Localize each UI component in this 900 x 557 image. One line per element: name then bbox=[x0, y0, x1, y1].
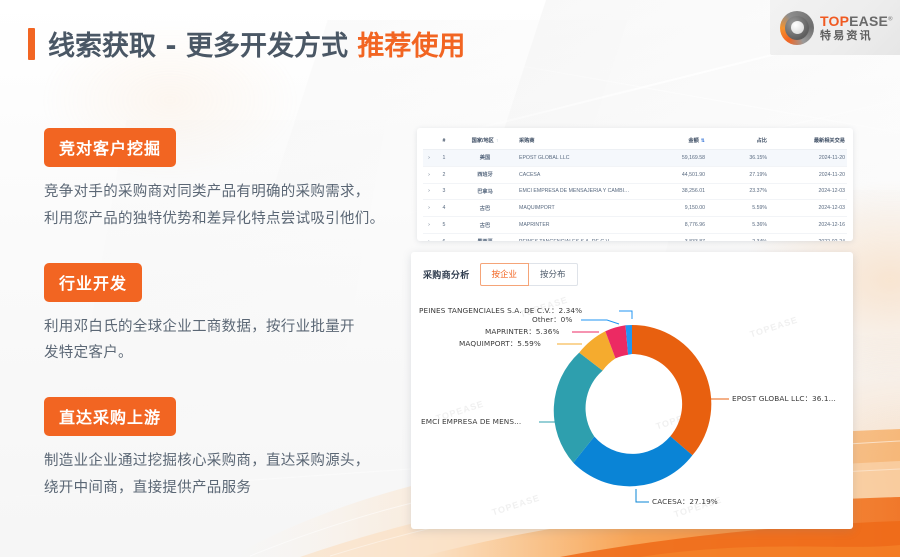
table-row[interactable]: › 2 西班牙 CACESA 44,501.90 27.19% 2024-11-… bbox=[423, 166, 847, 183]
feature-list: 竞对客户挖掘 竞争对手的采购商对同类产品有明确的采购需求， 利用您产品的独特优势… bbox=[44, 128, 404, 502]
chart-body: TOPEASE TOPEASE TOPEASE TOPEASE TOPEASE … bbox=[411, 286, 853, 521]
row-amount: 8,776.96 bbox=[635, 217, 707, 234]
row-latest: 2024-12-03 bbox=[769, 200, 847, 217]
row-country: 美国 bbox=[453, 150, 517, 167]
row-latest: 2024-11-20 bbox=[769, 150, 847, 167]
buyer-analysis-card: 采购商分析 按企业 按分布 TOPEASE TOPEASE TOPEASE TO… bbox=[411, 252, 853, 529]
logo-wordmark: TOPEASE® 特易资讯 bbox=[820, 14, 893, 42]
th-expand bbox=[423, 132, 435, 150]
logo-subtitle: 特易资讯 bbox=[820, 31, 893, 42]
row-country: 西班牙 bbox=[453, 166, 517, 183]
table-row[interactable]: › 5 古巴 MAPRINTER 8,776.96 5.36% 2024-12-… bbox=[423, 217, 847, 234]
feature-desc-1: 竞争对手的采购商对同类产品有明确的采购需求， 利用您产品的独特优势和差异化特点尝… bbox=[44, 179, 404, 233]
row-expand-icon[interactable]: › bbox=[423, 200, 435, 217]
row-buyer[interactable]: MAPRINTER bbox=[517, 217, 635, 234]
th-amount[interactable]: 金额⇅ bbox=[635, 132, 707, 150]
chart-header: 采购商分析 按企业 按分布 bbox=[411, 252, 853, 286]
table-row[interactable]: › 1 美国 EPOST GLOBAL LLC 59,169.58 36.15%… bbox=[423, 150, 847, 167]
row-latest: 2024-11-20 bbox=[769, 166, 847, 183]
chart-title: 采购商分析 bbox=[423, 268, 470, 281]
slice-cacesa[interactable] bbox=[573, 436, 692, 486]
row-amount: 3,833.87 bbox=[635, 233, 707, 241]
row-latest: 2024-12-16 bbox=[769, 217, 847, 234]
row-latest: 2024-12-03 bbox=[769, 183, 847, 200]
row-index: 6 bbox=[435, 233, 453, 241]
row-share: 5.36% bbox=[707, 217, 769, 234]
th-latest: 最新相关交易 bbox=[769, 132, 847, 150]
buyers-table: # 国家/地区↑ 采购商 金额⇅ 占比 最新相关交易 › 1 美国 EPOST … bbox=[423, 132, 847, 241]
sort-ascending-icon[interactable]: ↑ bbox=[496, 138, 499, 144]
callout-label-cacesa: CACESA：27.19% bbox=[652, 497, 718, 507]
table-row[interactable]: › 4 古巴 MAQUIMPORT 9,150.00 5.59% 2024-12… bbox=[423, 200, 847, 217]
title-main-text: 线索获取 - 更多开发方式 bbox=[48, 31, 348, 62]
row-expand-icon[interactable]: › bbox=[423, 150, 435, 167]
row-share: 2.34% bbox=[707, 233, 769, 241]
row-index: 5 bbox=[435, 217, 453, 234]
feature-desc-1-line-1: 竞争对手的采购商对同类产品有明确的采购需求， bbox=[44, 179, 404, 206]
row-buyer[interactable]: EPOST GLOBAL LLC bbox=[517, 150, 635, 167]
row-share: 23.37% bbox=[707, 183, 769, 200]
row-country: 古巴 bbox=[453, 217, 517, 234]
row-amount: 38,256.01 bbox=[635, 183, 707, 200]
logo-top-orange: TOP bbox=[820, 13, 849, 29]
row-expand-icon[interactable]: › bbox=[423, 183, 435, 200]
leader-peines bbox=[619, 311, 632, 319]
row-buyer[interactable]: PEINES TANGENCIALES S.A. DE C.V. bbox=[517, 233, 635, 241]
th-buyer: 采购商 bbox=[517, 132, 635, 150]
feature-desc-2: 利用邓白氏的全球企业工商数据，按行业批量开 发特定客户。 bbox=[44, 314, 404, 368]
sort-toggle-icon[interactable]: ⇅ bbox=[701, 138, 705, 144]
row-amount: 9,150.00 bbox=[635, 200, 707, 217]
callout-label-maprinter: MAPRINTER：5.36% bbox=[485, 327, 559, 337]
feature-desc-3-line-2: 绕开中间商，直接提供产品服务 bbox=[44, 475, 404, 502]
feature-desc-3-line-1: 制造业企业通过挖掘核心采购商，直达采购源头， bbox=[44, 448, 404, 475]
feature-badge-1: 竞对客户挖掘 bbox=[44, 128, 176, 167]
leader-cacesa bbox=[636, 489, 649, 502]
row-latest: 2022-02-24 bbox=[769, 233, 847, 241]
feature-desc-2-line-2: 发特定客户。 bbox=[44, 340, 404, 367]
callout-label-maquimport: MAQUIMPORT：5.59% bbox=[459, 339, 541, 349]
th-country-label: 国家/地区 bbox=[472, 138, 494, 144]
title-accent-bar bbox=[28, 28, 35, 60]
row-share: 27.19% bbox=[707, 166, 769, 183]
logo-top-grey: EASE bbox=[849, 13, 888, 29]
row-expand-icon[interactable]: › bbox=[423, 166, 435, 183]
callout-label-peines: PEINES TANGENCIALES S.A. DE C.V.：2.34% bbox=[419, 306, 582, 316]
buyers-table-card: # 国家/地区↑ 采购商 金额⇅ 占比 最新相关交易 › 1 美国 EPOST … bbox=[417, 128, 853, 241]
feature-block-3: 直达采购上游 制造业企业通过挖掘核心采购商，直达采购源头， 绕开中间商，直接提供… bbox=[44, 397, 404, 502]
registered-mark: ® bbox=[888, 16, 893, 22]
feature-desc-3: 制造业企业通过挖掘核心采购商，直达采购源头， 绕开中间商，直接提供产品服务 bbox=[44, 448, 404, 502]
page-title: 线索获取 - 更多开发方式 推荐使用 bbox=[28, 24, 465, 63]
tab-by-company[interactable]: 按企业 bbox=[480, 263, 530, 286]
th-index: # bbox=[435, 132, 453, 150]
tab-by-distribution[interactable]: 按分布 bbox=[529, 263, 578, 286]
row-expand-icon[interactable]: › bbox=[423, 217, 435, 234]
row-country: 墨西哥 bbox=[453, 233, 517, 241]
feature-badge-2: 行业开发 bbox=[44, 263, 142, 302]
feature-badge-3: 直达采购上游 bbox=[44, 397, 176, 436]
row-share: 5.59% bbox=[707, 200, 769, 217]
table-row[interactable]: › 6 墨西哥 PEINES TANGENCIALES S.A. DE C.V.… bbox=[423, 233, 847, 241]
slide-root: TOPEASE® 特易资讯 线索获取 - 更多开发方式 推荐使用 竞对客户挖掘 … bbox=[0, 0, 900, 557]
chart-view-tabs: 按企业 按分布 bbox=[480, 263, 578, 286]
logo-ring-icon bbox=[780, 11, 814, 45]
th-share: 占比 bbox=[707, 132, 769, 150]
row-share: 36.15% bbox=[707, 150, 769, 167]
table-row[interactable]: › 3 巴拿马 EMCI EMPRESA DE MENSAJERIA Y CAM… bbox=[423, 183, 847, 200]
callout-label-emci: EMCI EMPRESA DE MENS... bbox=[421, 417, 521, 426]
buyers-table-body: › 1 美国 EPOST GLOBAL LLC 59,169.58 36.15%… bbox=[423, 150, 847, 242]
row-expand-icon[interactable]: › bbox=[423, 233, 435, 241]
brand-logo: TOPEASE® 特易资讯 bbox=[770, 0, 900, 55]
row-country: 巴拿马 bbox=[453, 183, 517, 200]
th-country[interactable]: 国家/地区↑ bbox=[453, 132, 517, 150]
feature-desc-1-line-2: 利用您产品的独特优势和差异化特点尝试吸引他们。 bbox=[44, 206, 404, 233]
row-amount: 44,501.90 bbox=[635, 166, 707, 183]
row-country: 古巴 bbox=[453, 200, 517, 217]
row-amount: 59,169.58 bbox=[635, 150, 707, 167]
leader-other bbox=[581, 320, 619, 324]
row-index: 2 bbox=[435, 166, 453, 183]
th-amount-label: 金额 bbox=[688, 138, 698, 144]
row-index: 1 bbox=[435, 150, 453, 167]
callout-label-other: Other：0% bbox=[532, 315, 572, 325]
title-accent-text: 推荐使用 bbox=[357, 31, 465, 62]
row-index: 4 bbox=[435, 200, 453, 217]
feature-desc-2-line-1: 利用邓白氏的全球企业工商数据，按行业批量开 bbox=[44, 314, 404, 341]
row-buyer[interactable]: EMCI EMPRESA DE MENSAJERIA Y CAMBIO I... bbox=[517, 183, 635, 200]
row-index: 3 bbox=[435, 183, 453, 200]
row-buyer[interactable]: CACESA bbox=[517, 166, 635, 183]
donut-slices[interactable] bbox=[554, 325, 712, 486]
table-header-row: # 国家/地区↑ 采购商 金额⇅ 占比 最新相关交易 bbox=[423, 132, 847, 150]
callout-label-epost: EPOST GLOBAL LLC：36.1... bbox=[732, 394, 836, 404]
buyers-table-head: # 国家/地区↑ 采购商 金额⇅ 占比 最新相关交易 bbox=[423, 132, 847, 150]
feature-block-1: 竞对客户挖掘 竞争对手的采购商对同类产品有明确的采购需求， 利用您产品的独特优势… bbox=[44, 128, 404, 233]
row-buyer[interactable]: MAQUIMPORT bbox=[517, 200, 635, 217]
feature-block-2: 行业开发 利用邓白氏的全球企业工商数据，按行业批量开 发特定客户。 bbox=[44, 259, 404, 368]
slice-epost-global-llc[interactable] bbox=[632, 325, 711, 455]
